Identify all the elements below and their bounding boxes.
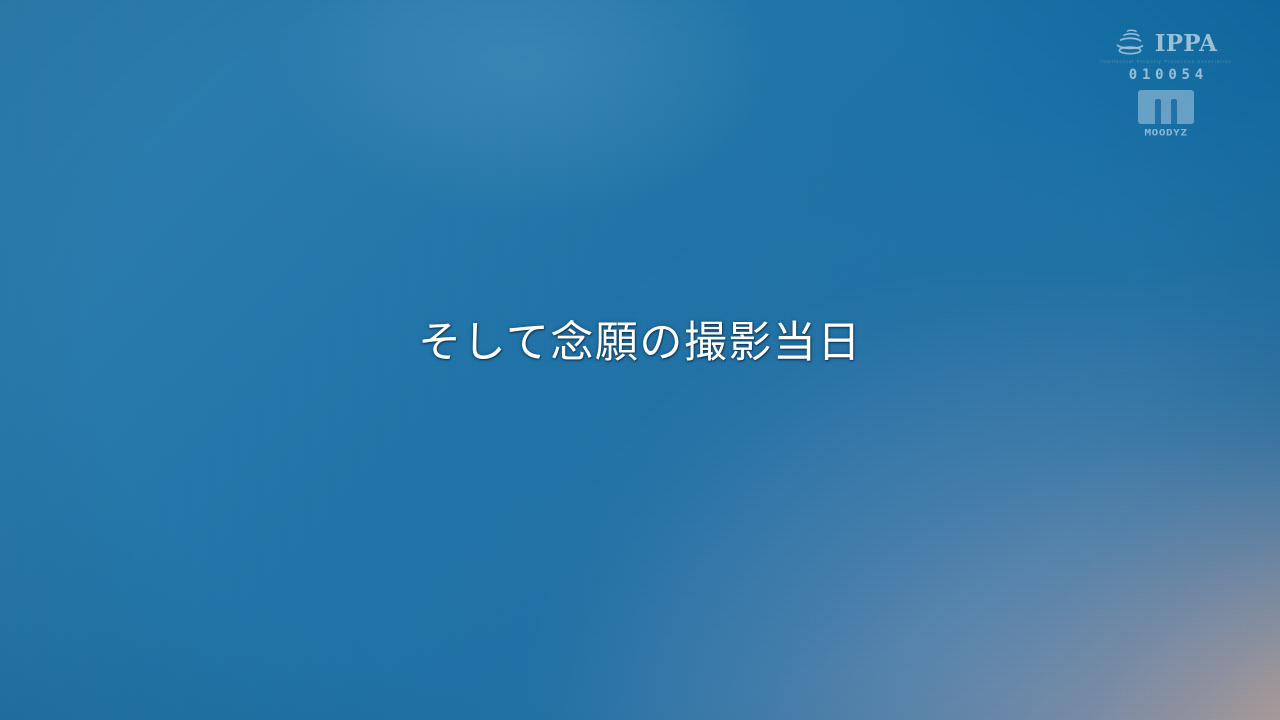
background-top-right-blue-glow [0, 0, 1280, 720]
background-base-gradient [0, 0, 1280, 720]
background-vignette [0, 0, 1280, 720]
moodyz-logo: MOODYZ [1138, 90, 1194, 138]
ippa-globe-icon [1115, 27, 1149, 58]
subtitle-layer: そして念願の撮影当日 [0, 318, 1280, 369]
video-frame: そして念願の撮影当日 IPPA Intellectual Property Pr… [0, 0, 1280, 720]
moodyz-icon-slot-left [1155, 99, 1161, 124]
moodyz-wordmark: MOODYZ [1144, 127, 1187, 136]
ippa-subtitle-text: Intellectual Property Protection Associa… [1100, 60, 1232, 65]
ippa-logo: IPPA [1115, 24, 1217, 58]
background-soft-highlight-blob [0, 0, 1280, 720]
ippa-registration-number: 010054 [1124, 68, 1208, 82]
ippa-wordmark: IPPA [1155, 32, 1217, 58]
background-warm-corner-glow [0, 0, 1280, 720]
subtitle-text: そして念願の撮影当日 [418, 318, 862, 369]
top-right-overlay: IPPA Intellectual Property Protection As… [1112, 24, 1220, 138]
moodyz-m-icon [1138, 90, 1194, 124]
background-film-grain [0, 0, 1280, 720]
background-violet-transition [0, 0, 1280, 720]
background-warm-haze [0, 0, 1280, 720]
moodyz-icon-slot-right [1171, 99, 1177, 124]
